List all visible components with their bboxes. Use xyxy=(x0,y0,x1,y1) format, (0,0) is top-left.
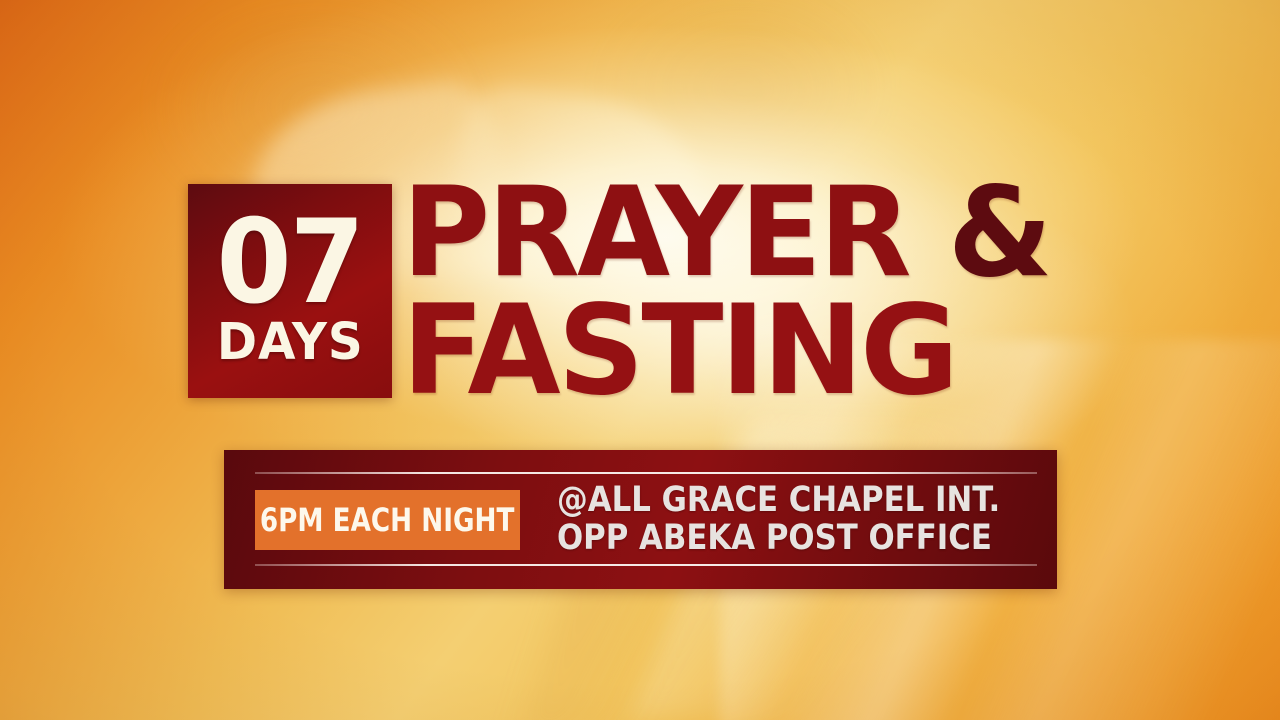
days-number: 07 xyxy=(217,214,363,311)
event-time-badge: 6PM EACH NIGHT xyxy=(255,490,520,550)
venue-landmark: OPP ABEKA POST OFFICE xyxy=(557,520,1000,557)
event-venue-block: @ALL GRACE CHAPEL INT. OPP ABEKA POST OF… xyxy=(557,482,1061,557)
event-poster: 07 DAYS PRAYER & FASTING 6PM EACH NIGHT … xyxy=(0,0,1280,720)
title-line-two: FASTING xyxy=(402,296,1050,408)
days-unit-label: DAYS xyxy=(217,317,364,368)
event-time-label: 6PM EACH NIGHT xyxy=(260,501,514,539)
days-count-badge: 07 DAYS xyxy=(188,184,392,398)
headline-block: 07 DAYS PRAYER & FASTING xyxy=(188,178,1118,408)
banner-content-row: 6PM EACH NIGHT @ALL GRACE CHAPEL INT. OP… xyxy=(224,484,1057,555)
event-details-banner: 6PM EACH NIGHT @ALL GRACE CHAPEL INT. OP… xyxy=(224,450,1057,589)
title-stack: PRAYER & FASTING xyxy=(402,178,1070,407)
banner-rule-bottom xyxy=(255,564,1037,566)
title-ampersand: & xyxy=(948,161,1050,305)
title-line-one: PRAYER & xyxy=(402,178,1050,290)
venue-name: @ALL GRACE CHAPEL INT. xyxy=(557,482,1000,519)
banner-rule-top xyxy=(255,472,1037,474)
